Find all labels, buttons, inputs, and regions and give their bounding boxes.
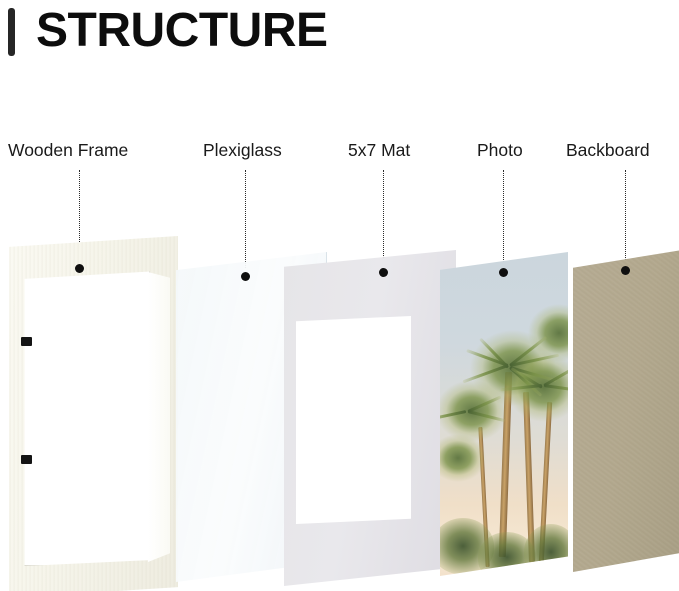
leader-dot-backboard — [621, 266, 630, 275]
photo-part — [440, 252, 568, 576]
frame-inner-bevel — [148, 272, 170, 562]
mat-window-cutout — [296, 316, 411, 524]
exploded-stack — [0, 0, 679, 591]
frame-opening — [22, 270, 150, 566]
photo-image-palm-trees — [440, 252, 568, 576]
infographic-canvas: STRUCTURE Wooden Frame Plexiglass 5x7 Ma… — [0, 0, 679, 591]
backboard-part — [573, 250, 679, 572]
backboard-panel — [573, 250, 679, 572]
frame-clip-lower — [21, 455, 32, 464]
leader-dot-photo — [499, 268, 508, 277]
leader-dot-wooden-frame — [75, 264, 84, 273]
leader-dot-mat — [379, 268, 388, 277]
frame-clip-upper — [21, 337, 32, 346]
leader-dot-plexiglass — [241, 272, 250, 281]
mat-part — [284, 250, 456, 586]
